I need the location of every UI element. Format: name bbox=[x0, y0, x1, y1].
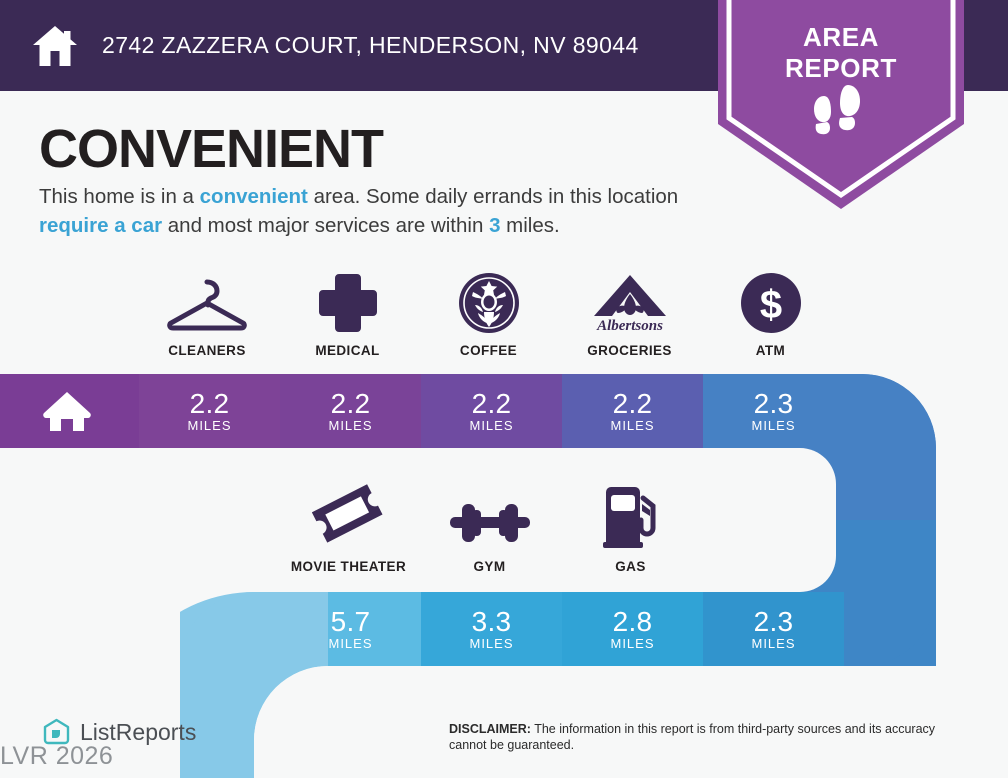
summary-part-1: This home is in a bbox=[39, 185, 200, 208]
dollar-circle-icon: $ bbox=[740, 268, 802, 334]
home-icon bbox=[32, 24, 78, 68]
summary-part-4: miles. bbox=[500, 214, 559, 237]
badge-label: AREA REPORT bbox=[718, 22, 964, 84]
page-summary: This home is in a convenient area. Some … bbox=[39, 182, 729, 240]
badge-line-1: AREA bbox=[718, 22, 964, 53]
svg-text:$: $ bbox=[759, 283, 781, 327]
badge-line-2: REPORT bbox=[718, 53, 964, 84]
watermark-text: LVR 2026 bbox=[0, 742, 113, 771]
area-report-page: 2742 ZAZZERA COURT, HENDERSON, NV 89044 … bbox=[0, 0, 1008, 778]
left-downturn-tail bbox=[180, 592, 328, 778]
disclaimer: DISCLAIMER: The information in this repo… bbox=[449, 721, 969, 753]
property-address: 2742 ZAZZERA COURT, HENDERSON, NV 89044 bbox=[102, 32, 639, 59]
area-report-badge: AREA REPORT bbox=[718, 0, 964, 211]
summary-part-3: and most major services are within bbox=[162, 214, 489, 237]
clothes-hanger-icon bbox=[165, 268, 249, 334]
summary-highlight-3: 3 bbox=[489, 214, 500, 237]
disclaimer-label: DISCLAIMER: bbox=[449, 722, 531, 736]
summary-highlight-1: convenient bbox=[200, 185, 308, 208]
summary-part-2: area. Some daily errands in this locatio… bbox=[308, 185, 678, 208]
page-title: CONVENIENT bbox=[39, 118, 383, 180]
medical-cross-icon bbox=[317, 268, 379, 334]
albertsons-logo-icon: Albertsons bbox=[578, 268, 682, 334]
distance-snake-chart: 2.2 MILES 2.2 MILES 2.2 MILES 2.2 MILES … bbox=[0, 340, 1008, 778]
starbucks-logo-icon bbox=[458, 268, 520, 334]
summary-highlight-2: require a car bbox=[39, 214, 162, 237]
home-origin-icon bbox=[42, 389, 92, 433]
svg-text:Albertsons: Albertsons bbox=[596, 318, 663, 334]
